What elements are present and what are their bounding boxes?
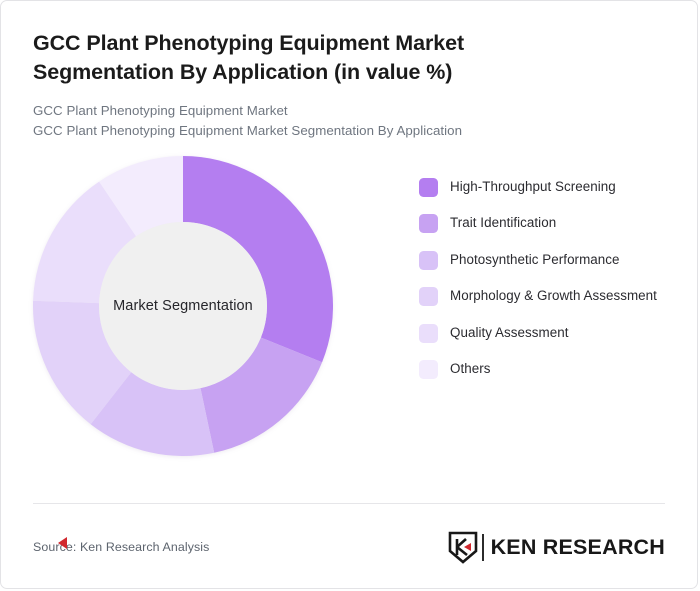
legend-item-label: Quality Assessment [450, 323, 569, 343]
legend-item-label: Others [450, 359, 491, 379]
donut-svg [33, 156, 333, 456]
chart-card: GCC Plant Phenotyping Equipment Market S… [0, 0, 698, 589]
legend-item[interactable]: Trait Identification [419, 213, 681, 233]
donut-chart: Market Segmentation [33, 156, 333, 456]
shield-k-icon [448, 531, 478, 564]
footer-divider [33, 503, 665, 504]
page-title: GCC Plant Phenotyping Equipment Market S… [33, 29, 593, 87]
brand-wordmark: KEN RESEARCH [491, 535, 665, 560]
legend-item[interactable]: High-Throughput Screening [419, 177, 681, 197]
legend-item-label: Morphology & Growth Assessment [450, 286, 657, 306]
subtitle-secondary: GCC Plant Phenotyping Equipment Market S… [33, 121, 665, 142]
legend-swatch-icon [419, 214, 438, 233]
chart-header: GCC Plant Phenotyping Equipment Market S… [1, 1, 697, 142]
legend-item-label: Photosynthetic Performance [450, 250, 620, 270]
brand-divider [482, 534, 484, 561]
legend-item[interactable]: Morphology & Growth Assessment [419, 286, 681, 306]
legend-item[interactable]: Quality Assessment [419, 323, 681, 343]
chart-footer: Source: Ken Research Analysis KEN RESEAR… [33, 529, 665, 565]
subtitle-primary: GCC Plant Phenotyping Equipment Market [33, 101, 665, 122]
legend-swatch-icon [419, 287, 438, 306]
chart-body: Market Segmentation High-Throughput Scre… [1, 142, 697, 472]
brand-logo: KEN RESEARCH [448, 531, 665, 564]
legend-item-label: Trait Identification [450, 213, 556, 233]
legend-item[interactable]: Photosynthetic Performance [419, 250, 681, 270]
legend-swatch-icon [419, 178, 438, 197]
donut-inner-circle [99, 222, 267, 390]
legend-swatch-icon [419, 324, 438, 343]
legend-swatch-icon [419, 360, 438, 379]
legend-swatch-icon [419, 251, 438, 270]
legend-item-label: High-Throughput Screening [450, 177, 616, 197]
brand-arrow-icon [56, 536, 69, 550]
legend-item[interactable]: Others [419, 359, 681, 379]
subtitle-group: GCC Plant Phenotyping Equipment Market G… [33, 101, 665, 142]
chart-legend: High-Throughput ScreeningTrait Identific… [419, 177, 681, 379]
